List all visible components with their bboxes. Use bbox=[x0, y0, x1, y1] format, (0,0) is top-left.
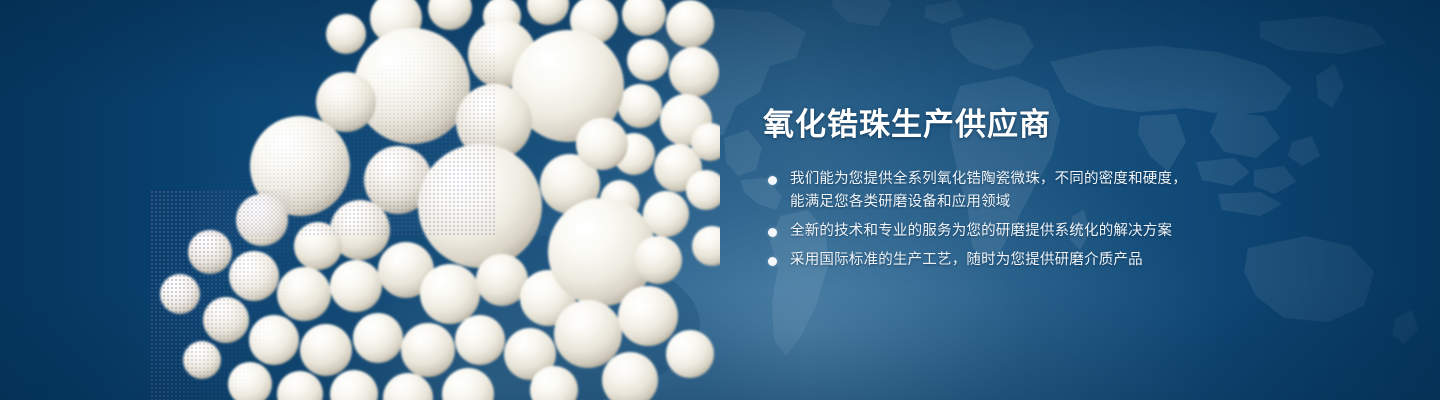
list-item-line-1: 全新的技术和专业的服务为您的研磨提供系统化的解决方案 bbox=[790, 220, 1233, 243]
hero-banner: 氧化锆珠生产供应商 我们能为您提供全系列氧化锆陶瓷微珠，不同的密度和硬度， 能满… bbox=[0, 0, 1440, 400]
feature-list: 我们能为您提供全系列氧化锆陶瓷微珠，不同的密度和硬度， 能满足您各类研磨设备和应… bbox=[763, 168, 1233, 272]
page-title: 氧化锆珠生产供应商 bbox=[763, 104, 1233, 146]
bullet-dot-icon bbox=[768, 228, 777, 237]
list-item-line-1: 采用国际标准的生产工艺，随时为您提供研磨介质产品 bbox=[790, 249, 1233, 272]
list-item: 我们能为您提供全系列氧化锆陶瓷微珠，不同的密度和硬度， 能满足您各类研磨设备和应… bbox=[763, 168, 1233, 214]
list-item-line-2: 能满足您各类研磨设备和应用领域 bbox=[790, 191, 1233, 214]
bullet-dot-icon bbox=[768, 257, 777, 266]
list-item: 全新的技术和专业的服务为您的研磨提供系统化的解决方案 bbox=[763, 220, 1233, 243]
banner-copy: 氧化锆珠生产供应商 我们能为您提供全系列氧化锆陶瓷微珠，不同的密度和硬度， 能满… bbox=[763, 104, 1233, 272]
bullet-dot-icon bbox=[768, 176, 777, 185]
list-item: 采用国际标准的生产工艺，随时为您提供研磨介质产品 bbox=[763, 249, 1233, 272]
list-item-line-1: 我们能为您提供全系列氧化锆陶瓷微珠，不同的密度和硬度， bbox=[790, 168, 1233, 191]
